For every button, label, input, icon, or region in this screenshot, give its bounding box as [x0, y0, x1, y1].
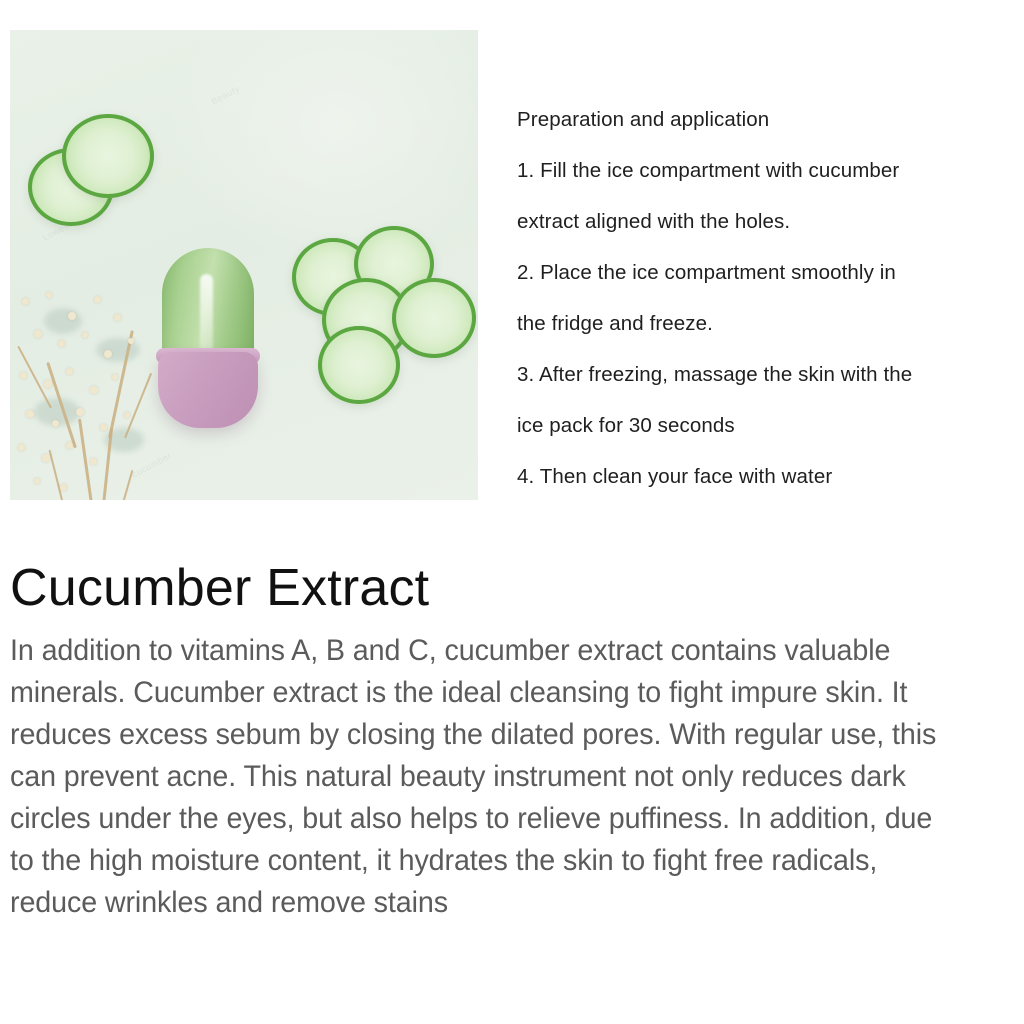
- device-base: [158, 352, 258, 428]
- article-paragraph: In addition to vitamins A, B and C, cucu…: [10, 630, 938, 924]
- instruction-line: ice pack for 30 seconds: [517, 400, 1022, 451]
- ice-roller-device: [158, 248, 258, 428]
- article-paragraph-text: In addition to vitamins A, B and C, cucu…: [10, 630, 938, 924]
- instruction-line: 1. Fill the ice compartment with cucumbe…: [517, 145, 1022, 196]
- instructions-block: Preparation and application 1. Fill the …: [517, 94, 1022, 502]
- instruction-line: 2. Place the ice compartment smoothly in: [517, 247, 1022, 298]
- instruction-line: the fridge and freeze.: [517, 298, 1022, 349]
- dried-flowers: [10, 268, 179, 500]
- page-title: Cucumber Extract: [10, 562, 429, 614]
- cucumber-slice: [392, 278, 476, 358]
- watermark-text: Beauty: [209, 83, 241, 106]
- instruction-line: extract aligned with the holes.: [517, 196, 1022, 247]
- top-section: Lowest price Beauty IceBall cucumber: [0, 0, 1024, 530]
- instructions-title: Preparation and application: [517, 94, 1022, 145]
- product-photo: Lowest price Beauty IceBall cucumber: [10, 30, 478, 500]
- cucumber-slice: [62, 114, 154, 198]
- instruction-line: 3. After freezing, massage the skin with…: [517, 349, 1022, 400]
- cucumber-slice: [318, 326, 400, 404]
- instruction-line: 4. Then clean your face with water: [517, 451, 1022, 502]
